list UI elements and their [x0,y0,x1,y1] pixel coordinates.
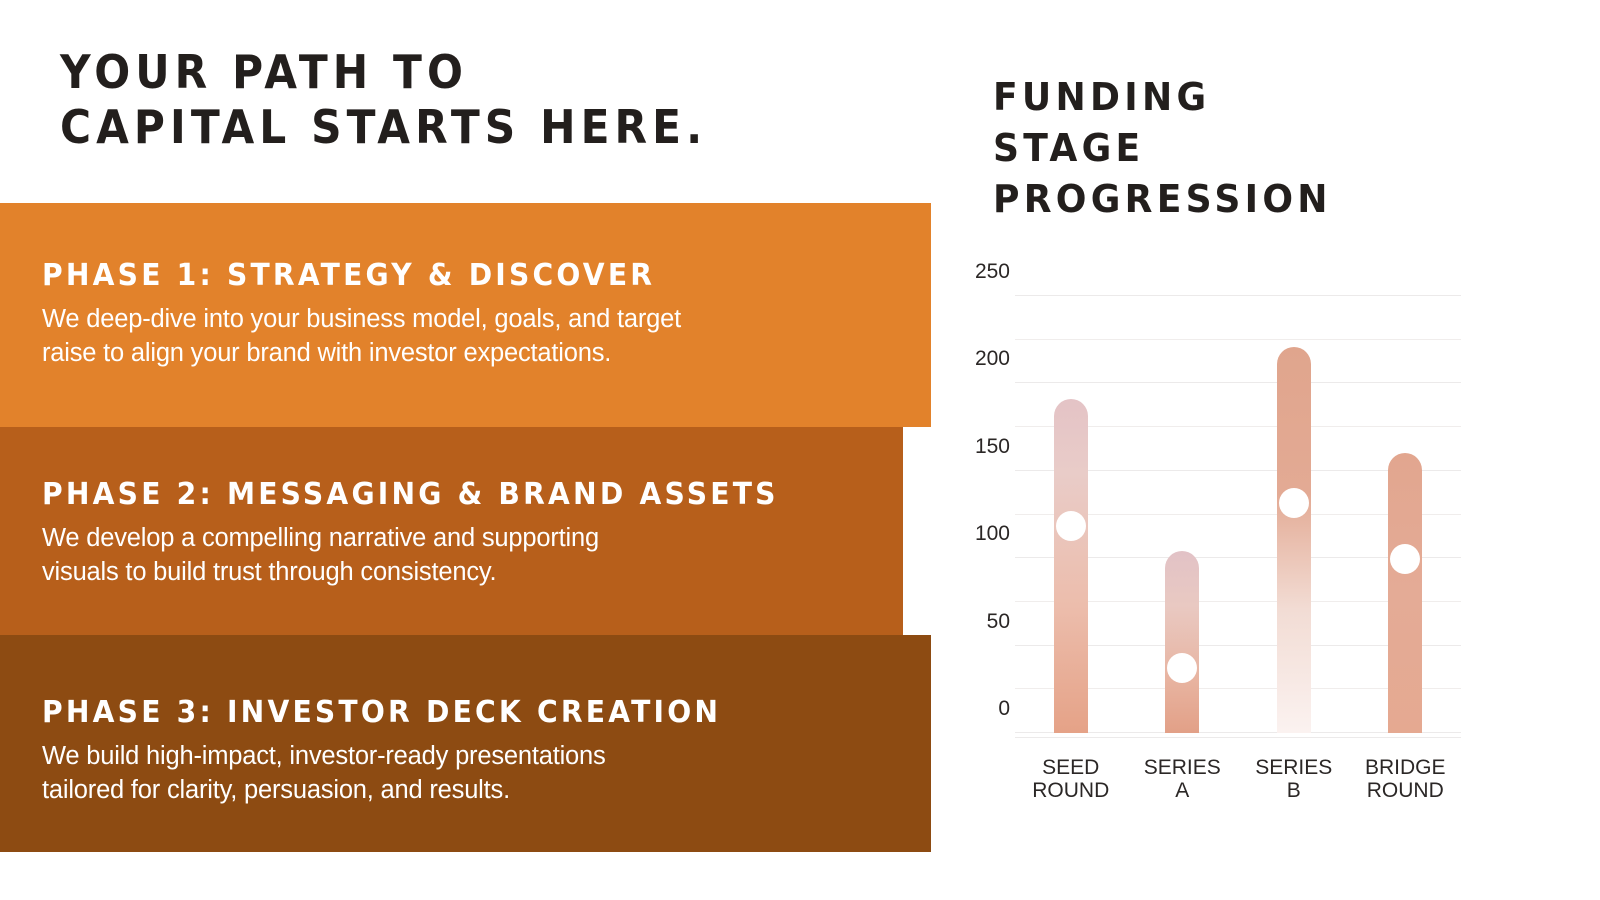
phase-3-title: Phase 3: Investor Deck Creation [42,695,878,731]
phase-1-body: We deep-dive into your business model, g… [42,302,892,370]
x-axis-tick-label-line: BRIDGE [1330,756,1480,779]
slide-root: Your Path to Capital Starts Here. Phase … [0,0,1600,900]
y-axis-tick-label: 50 [930,610,1010,634]
page-title: Your Path to Capital Starts Here. [60,45,880,155]
y-axis-tick-label: 250 [930,260,1010,284]
phase-3-body: We build high-impact, investor-ready pre… [42,739,892,807]
phase-block-2[interactable]: Phase 2: Messaging & Brand Assets We dev… [0,427,903,635]
x-axis-tick-label-line: ROUND [1330,779,1480,802]
phase-block-1[interactable]: Phase 1: Strategy & Discover We deep-div… [0,203,931,427]
bar-3[interactable] [1277,347,1311,733]
phase-1-body-line-1: We deep-dive into your business model, g… [42,302,892,336]
phase-3-body-line-1: We build high-impact, investor-ready pre… [42,739,892,773]
chart-title-line-1: Funding [993,72,1332,123]
bar-2[interactable] [1165,551,1199,733]
chart-panel: Funding Stage Progression 05010015020025… [985,0,1600,900]
phase-2-title: Phase 2: Messaging & Brand Assets [42,477,851,513]
chart-bars [1015,296,1461,752]
phase-3-body-line-2: tailored for clarity, persuasion, and re… [42,773,892,807]
y-axis-tick-label: 150 [930,435,1010,459]
x-axis-line [1015,737,1461,738]
bar-marker-2[interactable] [1167,653,1197,683]
y-axis-labels: 050100150200250 [930,296,1010,752]
bar-marker-1[interactable] [1056,511,1086,541]
bar-marker-4[interactable] [1390,544,1420,574]
phase-2-body-line-2: visuals to build trust through consisten… [42,555,892,589]
phase-block-3[interactable]: Phase 3: Investor Deck Creation We build… [0,635,931,852]
chart-title-line-3: Progression [993,174,1332,225]
y-axis-tick-label: 200 [930,347,1010,371]
headline-line-2: Capital Starts Here. [60,100,814,155]
bar-1[interactable] [1054,399,1088,733]
y-axis-tick-label: 0 [930,697,1010,721]
x-axis-tick-label: BRIDGEROUND [1330,756,1480,802]
bar-chart: 050100150200250 SEEDROUNDSERIESASERIESBB… [985,296,1455,756]
phase-list: Phase 1: Strategy & Discover We deep-div… [0,203,931,852]
bar-4[interactable] [1388,453,1422,733]
chart-title-line-2: Stage [993,123,1332,174]
phase-2-body: We develop a compelling narrative and su… [42,521,892,589]
y-axis-tick-label: 100 [930,522,1010,546]
x-axis-labels: SEEDROUNDSERIESASERIESBBRIDGEROUND [1015,756,1461,816]
phase-1-title: Phase 1: Strategy & Discover [42,258,878,294]
headline-line-1: Your Path to [60,45,814,100]
bar-marker-3[interactable] [1279,488,1309,518]
phase-2-body-line-1: We develop a compelling narrative and su… [42,521,892,555]
phase-1-body-line-2: raise to align your brand with investor … [42,336,892,370]
chart-title: Funding Stage Progression [993,72,1332,225]
